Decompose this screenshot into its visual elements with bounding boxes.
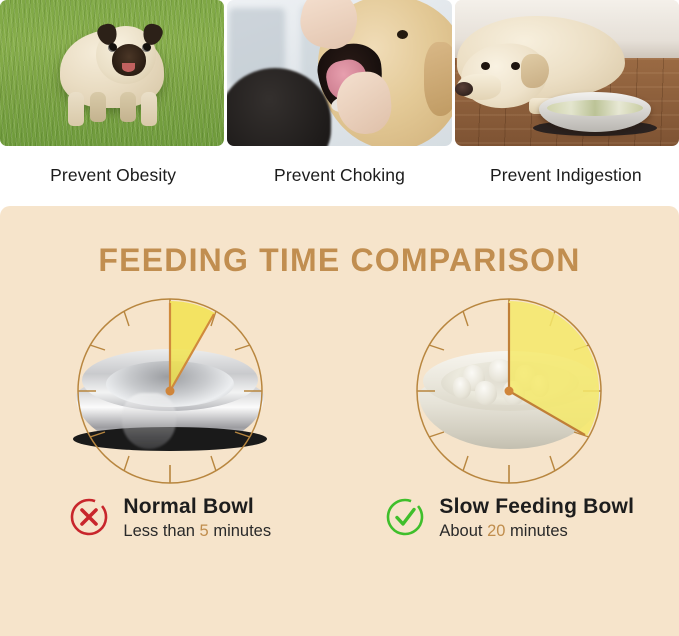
slow-feeding-bowl-title: Slow Feeding Bowl — [439, 495, 634, 519]
normal-bowl-label-group: Normal Bowl Less than 5 minutes — [68, 495, 271, 540]
benefit-caption-obesity: Prevent Obesity — [0, 165, 226, 186]
normal-bowl-sub-prefix: Less than — [123, 522, 199, 540]
labrador-ear — [521, 54, 549, 88]
slow-bowl-sub-suffix: minutes — [505, 522, 567, 540]
normal-bowl-title: Normal Bowl — [123, 495, 271, 519]
clock-ring-normal-bowl — [72, 293, 268, 489]
clock-ring-slow-feeding-bowl — [411, 293, 607, 489]
labrador-eye — [511, 62, 520, 70]
benefit-captions: Prevent Obesity Prevent Choking Prevent … — [0, 146, 679, 204]
benefit-photo-choking — [227, 0, 451, 146]
normal-bowl-sub-value: 5 — [200, 522, 209, 540]
normal-bowl-texts: Normal Bowl Less than 5 minutes — [123, 495, 271, 540]
slow-feeding-bowl-texts: Slow Feeding Bowl About 20 minutes — [439, 495, 634, 540]
clock-hub — [505, 387, 514, 396]
labrador-nose — [455, 82, 473, 96]
clock-dial-normal-bowl — [72, 293, 268, 489]
benefit-photo-obesity — [0, 0, 224, 146]
benefits-photo-strip — [0, 0, 679, 146]
normal-bowl-subtitle: Less than 5 minutes — [123, 522, 271, 540]
pug-leg — [120, 92, 136, 122]
clock-dial-slow-feeding-bowl — [411, 293, 607, 489]
labrador-eye — [481, 62, 490, 70]
clock-column-slow-feeding-bowl — [340, 293, 679, 489]
label-column-slow-feeding-bowl: Slow Feeding Bowl About 20 minutes — [340, 495, 679, 540]
slow-bowl-sub-value: 20 — [487, 522, 505, 540]
slow-feeding-bowl-subtitle: About 20 minutes — [439, 522, 634, 540]
slow-bowl-sub-prefix: About — [439, 522, 487, 540]
benefit-caption-choking: Prevent Choking — [226, 165, 452, 186]
page-title: FEEDING TIME COMPARISON — [0, 242, 679, 279]
feeding-time-comparison-panel: FEEDING TIME COMPARISON — [0, 206, 679, 636]
pug-leg — [68, 92, 84, 126]
bowl-food — [547, 100, 643, 116]
label-column-normal-bowl: Normal Bowl Less than 5 minutes — [0, 495, 340, 540]
benefit-photo-indigestion — [455, 0, 679, 146]
clock-column-normal-bowl — [0, 293, 340, 489]
slow-feeding-bowl-label-group: Slow Feeding Bowl About 20 minutes — [384, 495, 634, 540]
check-icon — [384, 496, 426, 538]
retriever-eye — [397, 30, 408, 39]
normal-bowl-sub-suffix: minutes — [209, 522, 271, 540]
clock-hub — [165, 387, 174, 396]
retriever-ear — [424, 42, 452, 116]
benefit-caption-indigestion: Prevent Indigestion — [453, 165, 679, 186]
clock-comparison-row — [0, 293, 679, 489]
pug-leg — [90, 92, 106, 122]
clock-wedge-20-minutes — [509, 301, 599, 436]
comparison-labels-row: Normal Bowl Less than 5 minutes Slow Fee… — [0, 495, 679, 540]
cross-icon — [68, 496, 110, 538]
pug-leg — [141, 92, 157, 126]
